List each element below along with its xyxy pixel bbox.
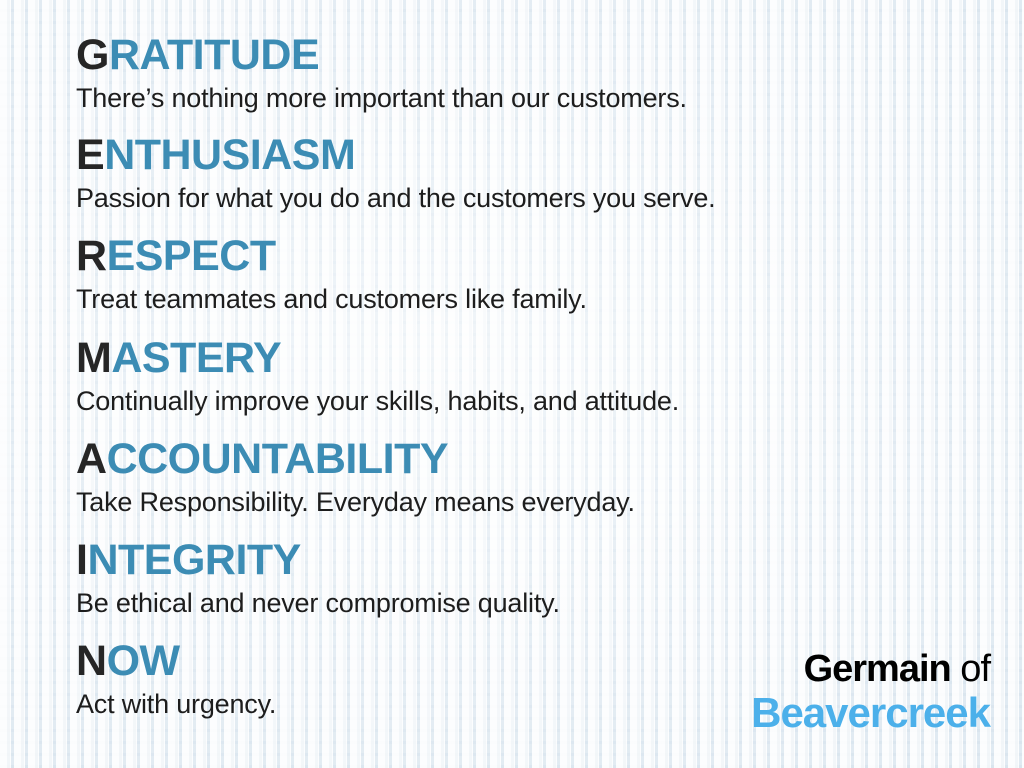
value-block-gratitude: GRATITUDE There’s nothing more important… — [76, 34, 984, 113]
value-initial: R — [76, 232, 107, 280]
value-initial: G — [76, 31, 109, 79]
value-block-respect: RESPECT Treat teammates and customers li… — [76, 235, 984, 314]
value-rest: CCOUNTABILITY — [107, 435, 448, 483]
value-description-gratitude: There’s nothing more important than our … — [76, 83, 984, 113]
value-block-accountability: ACCOUNTABILITY Take Responsibility. Ever… — [76, 438, 984, 517]
value-initial: N — [76, 637, 107, 685]
value-initial: I — [76, 536, 87, 584]
value-initial: M — [76, 334, 111, 382]
logo-location-name: Beavercreek — [751, 692, 990, 734]
value-heading-mastery: MASTERY — [76, 337, 984, 380]
value-description-respect: Treat teammates and customers like famil… — [76, 284, 984, 314]
value-heading-respect: RESPECT — [76, 235, 984, 278]
dealership-logo: Germain of Beavercreek — [751, 650, 990, 734]
value-description-mastery: Continually improve your skills, habits,… — [76, 386, 984, 416]
value-description-enthusiasm: Passion for what you do and the customer… — [76, 183, 984, 213]
value-block-mastery: MASTERY Continually improve your skills,… — [76, 337, 984, 416]
value-initial: A — [76, 435, 107, 483]
value-rest: RATITUDE — [109, 31, 319, 79]
value-heading-accountability: ACCOUNTABILITY — [76, 438, 984, 481]
value-heading-enthusiasm: ENTHUSIASM — [76, 134, 984, 177]
value-rest: NTEGRITY — [87, 536, 300, 584]
value-rest: ESPECT — [107, 232, 276, 280]
logo-brand-name: Germain — [804, 648, 951, 690]
value-block-integrity: INTEGRITY Be ethical and never compromis… — [76, 539, 984, 618]
value-initial: E — [76, 131, 104, 179]
value-rest: ASTERY — [111, 334, 281, 382]
value-rest: OW — [107, 637, 180, 685]
value-description-integrity: Be ethical and never compromise quality. — [76, 588, 984, 618]
value-heading-integrity: INTEGRITY — [76, 539, 984, 582]
value-block-enthusiasm: ENTHUSIASM Passion for what you do and t… — [76, 134, 984, 213]
value-description-accountability: Take Responsibility. Everyday means ever… — [76, 487, 984, 517]
value-heading-gratitude: GRATITUDE — [76, 34, 984, 77]
logo-primary-line: Germain of — [751, 650, 990, 688]
logo-connector: of — [951, 648, 990, 690]
value-rest: NTHUSIASM — [104, 131, 355, 179]
